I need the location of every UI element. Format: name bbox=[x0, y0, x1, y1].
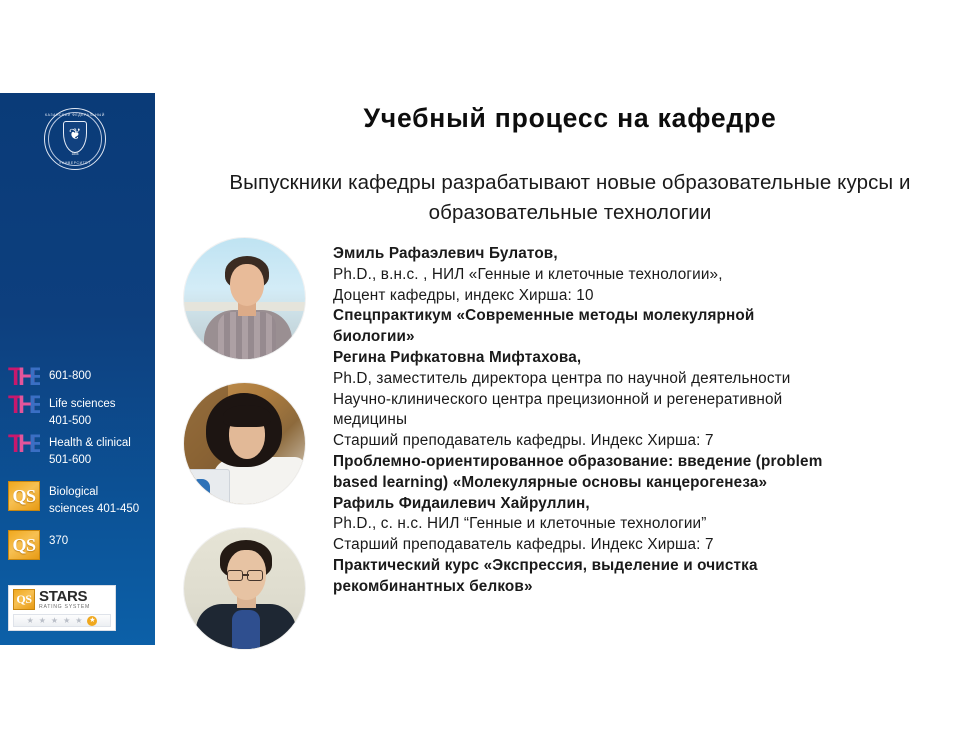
qs-stars-header: QS STARS RATING SYSTEM bbox=[13, 589, 111, 610]
qs-stars-badge: QS STARS RATING SYSTEM ★ ★ ★ ★ ★ ★ bbox=[8, 585, 116, 631]
ranking-item-the-health-clinical: T H E Health & clinical 501-600 bbox=[0, 432, 155, 469]
star-icon: ★ bbox=[27, 617, 34, 625]
person-course-line: based learning) «Молекулярные основы кан… bbox=[333, 473, 948, 494]
qs-stars-subtitle: RATING SYSTEM bbox=[39, 605, 90, 610]
star-icon-highlighted: ★ bbox=[87, 616, 97, 626]
star-icon: ★ bbox=[51, 617, 58, 625]
photo-monitor-mark bbox=[196, 479, 210, 495]
person-entry-khayrullin: Рафиль Фидаилевич Хайруллин, Ph.D., с. н… bbox=[333, 494, 948, 598]
person-detail-line: Старший преподаватель кафедры. Индекс Хи… bbox=[333, 431, 948, 452]
ranking-item-the-overall: T H E 601-800 bbox=[0, 365, 155, 391]
person-detail-line: Ph.D., с. н.с. НИЛ “Генные и клеточные т… bbox=[333, 514, 948, 535]
people-text-column: Эмиль Рафаэлевич Булатов, Ph.D., в.н.с. … bbox=[333, 244, 948, 598]
page-title: Учебный процесс на кафедре bbox=[180, 103, 960, 134]
person-course-line: Практический курс «Экспрессия, выделение… bbox=[333, 556, 948, 577]
the-logo-letter-e: E bbox=[29, 365, 40, 390]
glasses-lens-left-icon bbox=[227, 570, 243, 581]
the-logo-letter-e: E bbox=[29, 432, 40, 457]
photo-shirt bbox=[218, 312, 276, 359]
seal-year-text: 1804 bbox=[44, 152, 106, 156]
person-detail-line: Старший преподаватель кафедры. Индекс Хи… bbox=[333, 535, 948, 556]
brand-sidebar: КАЗАНСКИЙ ФЕДЕРАЛЬНЫЙ ❦ 1804 УНИВЕРСИТЕТ… bbox=[0, 93, 155, 645]
person-course-line: биологии» bbox=[333, 327, 948, 348]
star-icon: ★ bbox=[39, 617, 46, 625]
seal-arc-bottom-text: УНИВЕРСИТЕТ bbox=[44, 161, 106, 165]
page-subtitle: Выпускники кафедры разрабатывают новые о… bbox=[190, 168, 950, 228]
ranking-item-the-life-sciences: T H E Life sciences 401-500 bbox=[0, 393, 155, 430]
photo-bulatov bbox=[184, 238, 305, 359]
ranking-text: Biological sciences 401-450 bbox=[49, 481, 139, 518]
seal-arc-top-text: КАЗАНСКИЙ ФЕДЕРАЛЬНЫЙ bbox=[44, 113, 106, 117]
photo-hair-front bbox=[223, 405, 271, 427]
ranking-text: Health & clinical 501-600 bbox=[49, 432, 131, 469]
the-logo-icon: T H E bbox=[8, 393, 40, 419]
person-detail-line: медицины bbox=[333, 410, 948, 431]
qs-logo-icon: QS bbox=[8, 481, 40, 511]
the-logo-letter-e: E bbox=[29, 393, 40, 418]
ranking-item-qs-biological-sciences: QS Biological sciences 401-450 bbox=[0, 481, 155, 518]
qs-logo-icon: QS bbox=[8, 530, 40, 560]
qs-stars-title: STARS bbox=[39, 589, 90, 604]
portrait-column bbox=[184, 238, 310, 649]
glasses-bridge-icon bbox=[243, 574, 249, 576]
rankings-list: T H E 601-800 T H E Life sciences 401-50… bbox=[0, 365, 155, 562]
qs-stars-wordmark: STARS RATING SYSTEM bbox=[39, 589, 90, 610]
ranking-item-qs-overall: QS 370 bbox=[0, 530, 155, 560]
person-name: Рафиль Фидаилевич Хайруллин, bbox=[333, 494, 948, 515]
kfu-emblem-icon: КАЗАНСКИЙ ФЕДЕРАЛЬНЫЙ ❦ 1804 УНИВЕРСИТЕТ bbox=[44, 108, 106, 170]
photo-tshirt bbox=[232, 610, 260, 649]
seal-dragon-icon: ❦ bbox=[66, 126, 84, 144]
photo-miftakhova bbox=[184, 383, 305, 504]
ranking-text: 370 bbox=[49, 530, 68, 550]
star-icon: ★ bbox=[63, 617, 70, 625]
the-logo-icon: T H E bbox=[8, 365, 40, 391]
glasses-lens-right-icon bbox=[247, 570, 263, 581]
person-detail-line: Ph.D, заместитель директора центра по на… bbox=[333, 369, 948, 390]
the-logo-icon: T H E bbox=[8, 432, 40, 458]
person-detail-line: Доцент кафедры, индекс Хирша: 10 bbox=[333, 286, 948, 307]
person-course-line: Проблемно-ориентированное образование: в… bbox=[333, 452, 948, 473]
person-name: Эмиль Рафаэлевич Булатов, bbox=[333, 244, 948, 265]
photo-face bbox=[230, 264, 264, 306]
person-entry-miftakhova: Регина Рифкатовна Мифтахова, Ph.D, замес… bbox=[333, 348, 948, 494]
star-icon: ★ bbox=[75, 617, 82, 625]
person-entry-bulatov: Эмиль Рафаэлевич Булатов, Ph.D., в.н.с. … bbox=[333, 244, 948, 348]
person-detail-line: Научно-клинического центра прецизионной … bbox=[333, 390, 948, 411]
ranking-text: 601-800 bbox=[49, 365, 91, 385]
slide-root: КАЗАНСКИЙ ФЕДЕРАЛЬНЫЙ ❦ 1804 УНИВЕРСИТЕТ… bbox=[0, 0, 980, 735]
qs-logo-icon: QS bbox=[13, 589, 35, 610]
person-detail-line: Ph.D., в.н.с. , НИЛ «Генные и клеточные … bbox=[333, 265, 948, 286]
ranking-text: Life sciences 401-500 bbox=[49, 393, 115, 430]
person-course-line: рекомбинантных белков» bbox=[333, 577, 948, 598]
qs-stars-rating-row: ★ ★ ★ ★ ★ ★ bbox=[13, 614, 111, 627]
person-course-line: Спецпрактикум «Современные методы молеку… bbox=[333, 306, 948, 327]
photo-khayrullin bbox=[184, 528, 305, 649]
person-name: Регина Рифкатовна Мифтахова, bbox=[333, 348, 948, 369]
